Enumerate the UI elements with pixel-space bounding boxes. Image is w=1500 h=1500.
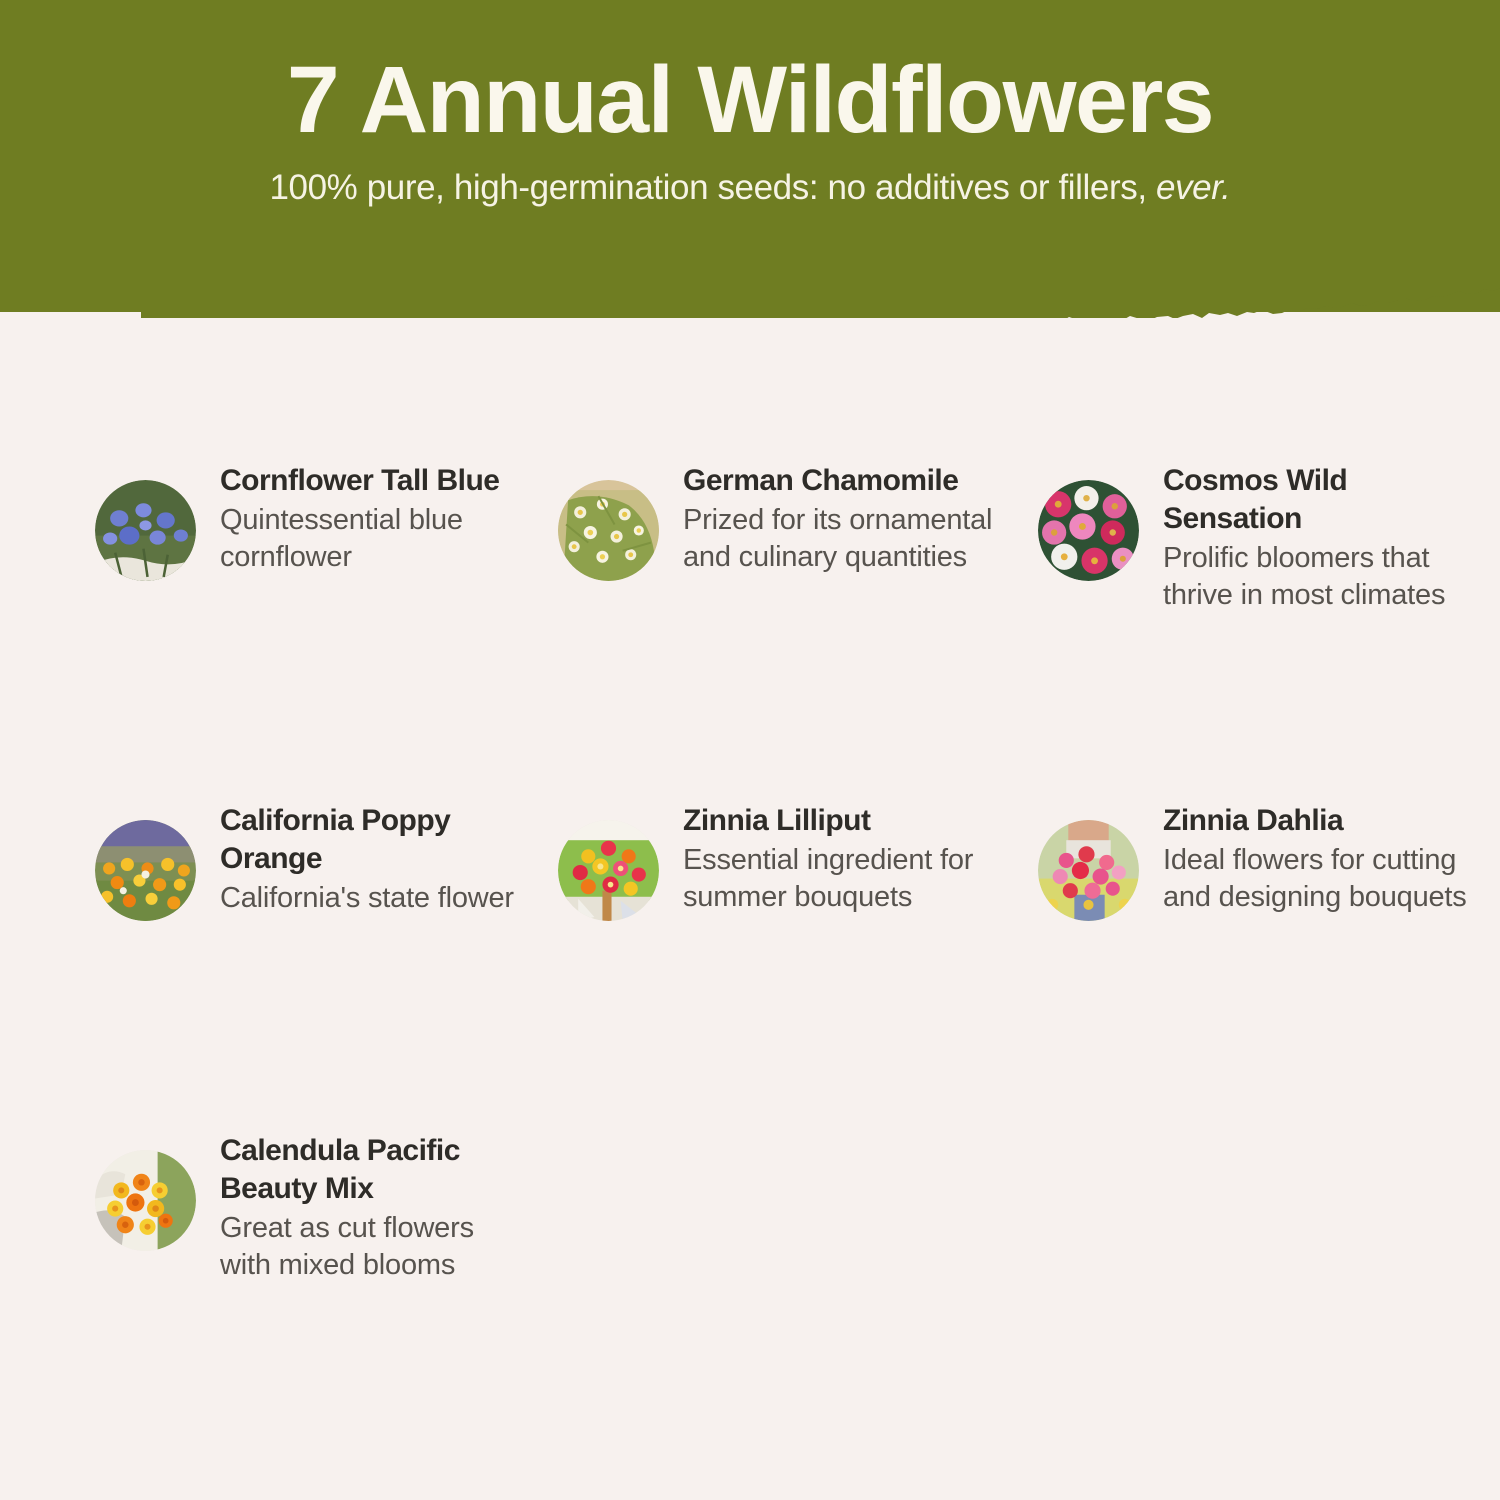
item-row: California Poppy Orange California's sta… xyxy=(0,802,1500,921)
item-title: Cornflower Tall Blue xyxy=(220,462,532,500)
cornflower-photo-icon xyxy=(95,480,196,581)
item-description: Essential ingredient for summer bouquets xyxy=(683,842,995,917)
item-text-block: Zinnia Lilliput Essential ingredient for… xyxy=(683,802,995,917)
item-text-block: Calendula Pacific Beauty Mix Great as cu… xyxy=(220,1132,550,1285)
list-item[interactable]: Calendula Pacific Beauty Mix Great as cu… xyxy=(95,1132,555,1285)
item-description: Quintessential blue cornflower xyxy=(220,502,532,577)
item-text-block: Cosmos Wild Sensation Prolific bloomers … xyxy=(1163,462,1493,615)
list-item[interactable]: California Poppy Orange California's sta… xyxy=(95,802,555,921)
list-item[interactable]: Zinnia Lilliput Essential ingredient for… xyxy=(558,802,1018,921)
header-content: 7 Annual Wildflowers 100% pure, high-ger… xyxy=(0,0,1500,207)
header-banner: 7 Annual Wildflowers 100% pure, high-ger… xyxy=(0,0,1500,312)
item-text-block: California Poppy Orange California's sta… xyxy=(220,802,550,917)
item-title: Zinnia Dahlia xyxy=(1163,802,1483,840)
item-description: Prized for its ornamental and culinary q… xyxy=(683,502,995,577)
item-row: Cornflower Tall Blue Quintessential blue… xyxy=(0,462,1500,615)
item-title: California Poppy Orange xyxy=(220,802,550,878)
item-title: Calendula Pacific Beauty Mix xyxy=(220,1132,550,1208)
calendula-photo-icon xyxy=(95,1150,196,1251)
item-text-block: Zinnia Dahlia Ideal flowers for cutting … xyxy=(1163,802,1483,917)
item-row: Calendula Pacific Beauty Mix Great as cu… xyxy=(0,1132,1500,1285)
cosmos-photo-icon xyxy=(1038,480,1139,581)
item-title: Cosmos Wild Sensation xyxy=(1163,462,1493,538)
item-description: Prolific bloomers that thrive in most cl… xyxy=(1163,540,1483,615)
chamomile-photo-icon xyxy=(558,480,659,581)
list-item[interactable]: German Chamomile Prized for its ornament… xyxy=(558,462,1018,615)
item-description: Great as cut flowers with mixed blooms xyxy=(220,1210,532,1285)
subtitle-emphasis-text: ever. xyxy=(1156,168,1231,207)
item-description: California's state flower xyxy=(220,880,532,918)
page-title: 7 Annual Wildflowers xyxy=(0,52,1500,149)
item-description: Ideal flowers for cutting and designing … xyxy=(1163,842,1483,917)
list-item[interactable]: Cosmos Wild Sensation Prolific bloomers … xyxy=(1038,462,1498,615)
item-title: German Chamomile xyxy=(683,462,995,500)
wildflower-list: Cornflower Tall Blue Quintessential blue… xyxy=(0,312,1500,1500)
item-text-block: German Chamomile Prized for its ornament… xyxy=(683,462,995,577)
subtitle-main-text: 100% pure, high-germination seeds: no ad… xyxy=(269,168,1146,207)
page-subtitle: 100% pure, high-germination seeds: no ad… xyxy=(0,169,1500,208)
list-item[interactable]: Zinnia Dahlia Ideal flowers for cutting … xyxy=(1038,802,1498,921)
zinnia-lilliput-photo-icon xyxy=(558,820,659,921)
product-infographic: 7 Annual Wildflowers 100% pure, high-ger… xyxy=(0,0,1500,1500)
item-title: Zinnia Lilliput xyxy=(683,802,995,840)
zinnia-dahlia-photo-icon xyxy=(1038,820,1139,921)
poppy-photo-icon xyxy=(95,820,196,921)
item-text-block: Cornflower Tall Blue Quintessential blue… xyxy=(220,462,532,577)
list-item[interactable]: Cornflower Tall Blue Quintessential blue… xyxy=(95,462,555,615)
